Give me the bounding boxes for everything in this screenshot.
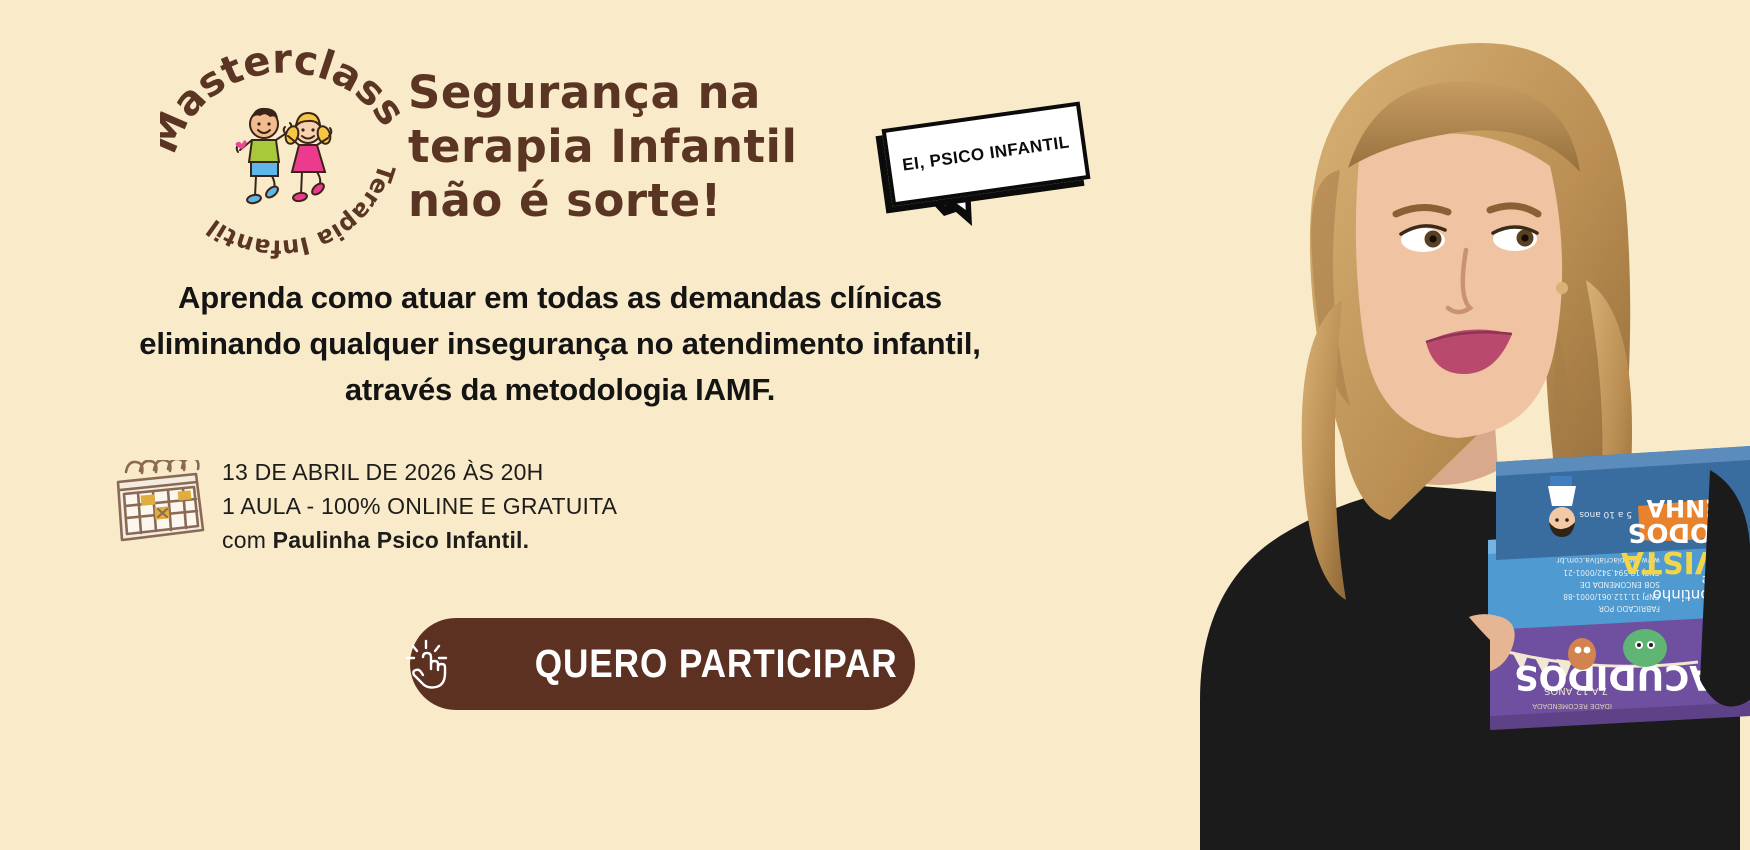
click-hand-icon bbox=[402, 637, 452, 691]
event-host-line: com Paulinha Psico Infantil. bbox=[222, 523, 617, 557]
logo-arc-bottom-text: Terapia Infantil bbox=[202, 161, 401, 262]
event-host-name: Paulinha Psico Infantil. bbox=[273, 527, 530, 553]
quero-participar-button[interactable]: QUERO PARTICIPAR bbox=[410, 618, 915, 710]
headline-line-3: não é sorte! bbox=[408, 174, 838, 228]
page-title: Segurança na terapia Infantil não é sort… bbox=[408, 66, 838, 228]
subheadline: Aprenda como atuar em todas as demandas … bbox=[60, 275, 1060, 413]
headline-line-2: terapia Infantil bbox=[408, 120, 838, 174]
event-format-line: 1 AULA - 100% ONLINE E GRATUITA bbox=[222, 489, 617, 523]
event-host-prefix: com bbox=[222, 527, 273, 553]
subheadline-line-3: através da metodologia IAMF. bbox=[60, 367, 1060, 413]
calendar-icon bbox=[108, 460, 208, 552]
presenter-photo: 7 A 12 ANOS IDADE RECOMENDADA SACUDIDOS bbox=[1190, 0, 1750, 850]
svg-text:FABRICADO POR: FABRICADO POR bbox=[1599, 604, 1660, 613]
subheadline-line-2: eliminando qualquer insegurança no atend… bbox=[60, 321, 1060, 367]
landing-page-banner: Masterclass bbox=[0, 0, 1750, 850]
speech-bubble: EI, PSICO INFANTIL bbox=[872, 112, 1102, 257]
event-details-text: 13 DE ABRIL DE 2026 ÀS 20H 1 AULA - 100%… bbox=[222, 455, 617, 557]
event-date-line: 13 DE ABRIL DE 2026 ÀS 20H bbox=[222, 455, 617, 489]
cta-button-label: QUERO PARTICIPAR bbox=[535, 642, 898, 687]
logo-arc-bottom: Terapia Infantil bbox=[168, 132, 408, 262]
subheadline-line-1: Aprenda como atuar em todas as demandas … bbox=[60, 275, 1060, 321]
speech-bubble-text: EI, PSICO INFANTIL bbox=[901, 132, 1071, 175]
headline-line-1: Segurança na bbox=[408, 66, 838, 120]
svg-text:IDADE RECOMENDADA: IDADE RECOMENDADA bbox=[1532, 702, 1612, 710]
svg-text:SOB ENCOMENDA DE: SOB ENCOMENDA DE bbox=[1580, 580, 1660, 589]
svg-text:Terapia Infantil: Terapia Infantil bbox=[202, 161, 401, 262]
event-details: 13 DE ABRIL DE 2026 ÀS 20H 1 AULA - 100%… bbox=[108, 455, 668, 557]
presenter-photo-illustration: 7 A 12 ANOS IDADE RECOMENDADA SACUDIDOS bbox=[1190, 0, 1750, 850]
speech-bubble-box: EI, PSICO INFANTIL bbox=[882, 101, 1091, 206]
svg-text:CNPJ 11.112.061/0001-88: CNPJ 11.112.061/0001-88 bbox=[1563, 592, 1660, 601]
masterclass-logo: Masterclass bbox=[160, 40, 400, 250]
svg-text:5 a 10 anos: 5 a 10 anos bbox=[1579, 509, 1632, 519]
